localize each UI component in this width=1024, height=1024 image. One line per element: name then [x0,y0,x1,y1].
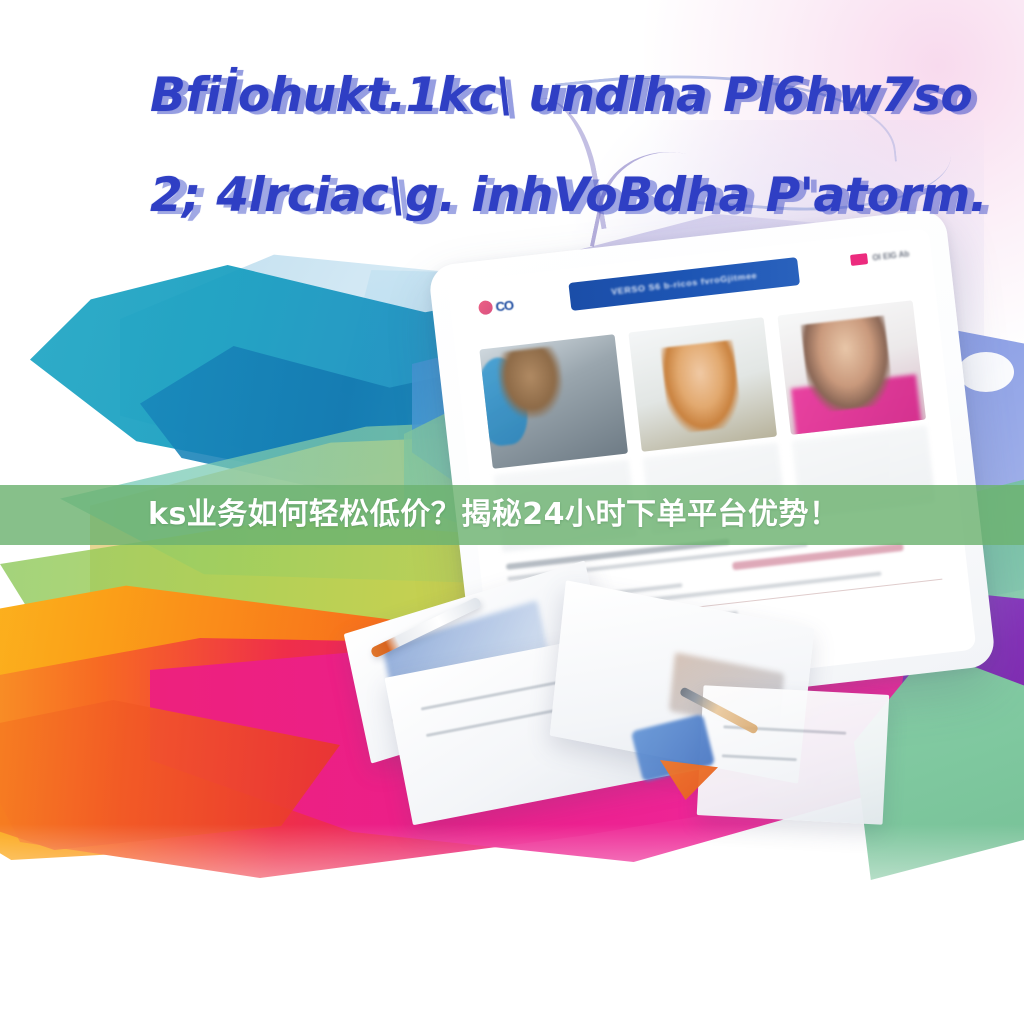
paper-text-line [426,707,568,737]
logo-mark-icon [478,300,493,315]
swoosh-curve-1 [555,49,897,196]
panel-notch [958,352,1014,392]
profile-photo[interactable] [479,334,628,469]
caption-banner: ks业务如何轻松低价？揭秘24小时下单平台优势！ [0,485,1024,545]
site-nav-bar[interactable]: VERSO S6 b-ricos fvroGjitmee [568,257,800,311]
profile-photo[interactable] [777,300,926,435]
paper-text-line [722,754,796,761]
bottom-fade [0,824,1024,1024]
headline-line-2: 2; 4lrciac\g. inhVoBdha P'atorm. [150,172,987,220]
site-logo[interactable]: CO [477,291,537,319]
body-accent-line [732,543,905,571]
headline-line-1-shadow: Bfiİohukt.1kc\ undlha Pl6hw7so [156,75,978,123]
site-nav-label: VERSO S6 b-ricos fvroGjitmee [611,271,758,297]
swoosh-curve-4 [508,91,606,242]
header-cta[interactable]: OI EIG Ab [850,248,910,266]
cta-label: OI EIG Ab [872,249,910,262]
cta-chip-icon [850,253,868,266]
profile-photo[interactable] [628,317,777,452]
headline-line-1: Bfiİohukt.1kc\ undlha Pl6hw7so [150,72,972,120]
scattered-paper [697,685,890,825]
swoosh-curve-2 [697,111,953,221]
caption-banner-text: ks业务如何轻松低价？揭秘24小时下单平台优势！ [148,500,840,530]
logo-wordmark: CO [495,297,514,314]
promo-banner-image: CO VERSO S6 b-ricos fvroGjitmee OI EIG A… [0,0,1024,1024]
red-slice-ribbon [0,700,340,850]
